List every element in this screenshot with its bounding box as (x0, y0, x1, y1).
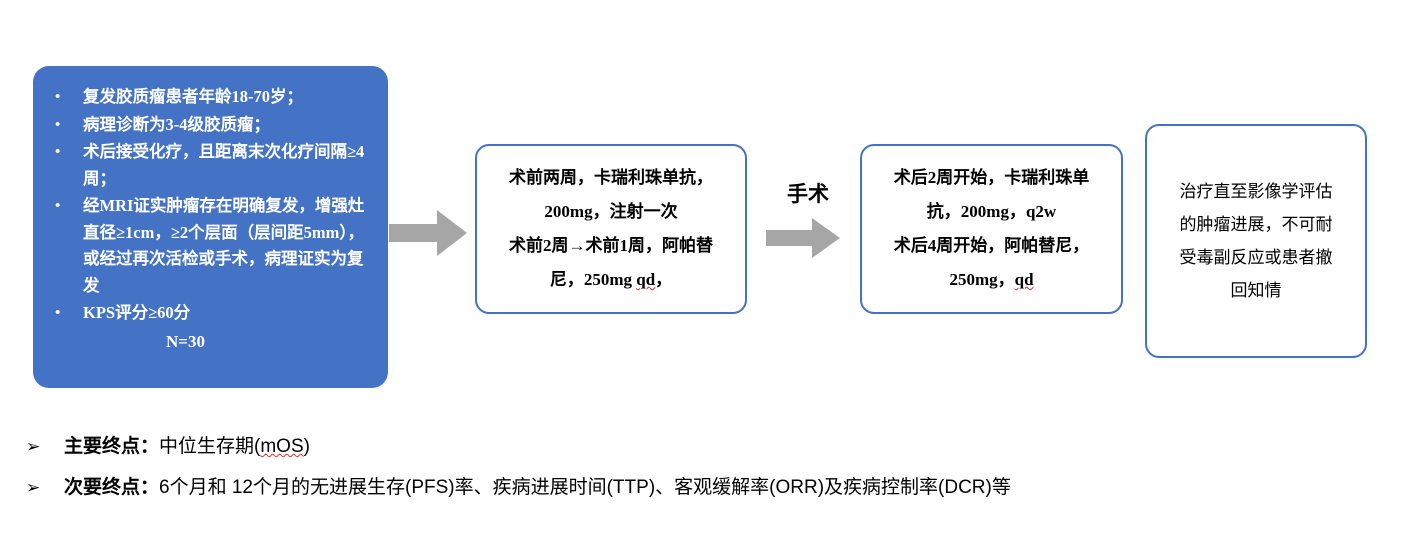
criterion-text: 术后接受化疗，且距离末次化疗间隔≥4周； (83, 142, 364, 188)
surgery-step-label: 手术 (772, 182, 844, 208)
treatment-continuation-box: 治疗直至影像学评估 的肿瘤进展，不可耐 受毒副反应或患者撤 回知情 (1145, 124, 1367, 358)
criterion-text: 复发胶质瘤患者年龄18-70岁； (83, 87, 303, 106)
pre-op-line-2: 200mg，注射一次 (485, 195, 737, 229)
list-item: • 经MRI证实肿瘤存在明确复发，增强灶直径≥1cm，≥2个层面（层间距5mm）… (43, 193, 376, 299)
post-op-line-4-text: 250mg，qd (949, 270, 1033, 289)
arrow-bullet-icon: ➢ (26, 432, 64, 462)
post-op-line-2: 抗，200mg，q2w (870, 195, 1113, 229)
primary-endpoint-row: ➢ 主要终点： 中位生存期(mOS) (26, 432, 1386, 462)
post-op-treatment-box: 术后2周开始，卡瑞利珠单 抗，200mg，q2w 术后4周开始，阿帕替尼， 25… (860, 144, 1123, 314)
arrow-right-icon-1 (389, 210, 467, 261)
secondary-endpoint-row: ➢ 次要终点： 6个月和 12个月的无进展生存(PFS)率、疾病进展时间(TTP… (26, 473, 1386, 503)
eligibility-criteria-list: • 复发胶质瘤患者年龄18-70岁； • 病理诊断为3-4级胶质瘤； • 术后接… (43, 84, 376, 327)
pre-op-treatment-box: 术前两周，卡瑞利珠单抗， 200mg，注射一次 术前2周→术前1周，阿帕替 尼，… (475, 144, 747, 314)
bullet-icon: • (55, 300, 60, 327)
sample-size-label: N=30 (43, 332, 376, 352)
post-op-line-3: 术后4周开始，阿帕替尼， (870, 229, 1113, 263)
treatment-continuation-text: 治疗直至影像学评估 的肿瘤进展，不可耐 受毒副反应或患者撤 回知情 (1147, 175, 1365, 307)
bullet-icon: • (55, 139, 60, 166)
continuation-line-4: 回知情 (1155, 274, 1357, 307)
eligibility-criteria-box: • 复发胶质瘤患者年龄18-70岁； • 病理诊断为3-4级胶质瘤； • 术后接… (33, 66, 388, 388)
primary-endpoint-text: 中位生存期(mOS) (159, 432, 310, 462)
list-item: • 术后接受化疗，且距离末次化疗间隔≥4周； (43, 139, 376, 192)
list-item: • 病理诊断为3-4级胶质瘤； (43, 112, 376, 139)
secondary-endpoint-text: 6个月和 12个月的无进展生存(PFS)率、疾病进展时间(TTP)、客观缓解率(… (159, 473, 1011, 503)
primary-endpoint-label: 主要终点： (64, 432, 159, 462)
pre-op-line-4: 尼，250mg qd， (485, 263, 737, 297)
bullet-icon: • (55, 193, 60, 220)
list-item: • 复发胶质瘤患者年龄18-70岁； (43, 84, 376, 111)
list-item: • KPS评分≥60分 (43, 300, 376, 327)
endpoints-section: ➢ 主要终点： 中位生存期(mOS) ➢ 次要终点： 6个月和 12个月的无进展… (26, 432, 1386, 514)
continuation-line-1: 治疗直至影像学评估 (1155, 175, 1357, 208)
post-op-line-1: 术后2周开始，卡瑞利珠单 (870, 161, 1113, 195)
spellcheck-marked-token: qd (636, 270, 655, 289)
trial-design-flowchart: • 复发胶质瘤患者年龄18-70岁； • 病理诊断为3-4级胶质瘤； • 术后接… (0, 0, 1412, 542)
criterion-text: KPS评分≥60分 (83, 303, 190, 322)
continuation-line-2: 的肿瘤进展，不可耐 (1155, 208, 1357, 241)
arrow-right-icon-2 (766, 218, 840, 263)
pre-op-line-3: 术前2周→术前1周，阿帕替 (485, 229, 737, 263)
secondary-endpoint-label: 次要终点： (64, 473, 159, 503)
continuation-line-3: 受毒副反应或患者撤 (1155, 241, 1357, 274)
bullet-icon: • (55, 112, 60, 139)
bullet-icon: • (55, 84, 60, 111)
pre-op-treatment-text: 术前两周，卡瑞利珠单抗， 200mg，注射一次 术前2周→术前1周，阿帕替 尼，… (477, 161, 745, 297)
spellcheck-marked-token: qd (1015, 270, 1034, 289)
arrow-bullet-icon: ➢ (26, 473, 64, 503)
criterion-text: 经MRI证实肿瘤存在明确复发，增强灶直径≥1cm，≥2个层面（层间距5mm），或… (83, 196, 364, 295)
post-op-line-4: 250mg，qd (870, 263, 1113, 297)
criterion-text: 病理诊断为3-4级胶质瘤； (83, 115, 270, 134)
spellcheck-marked-token: mOS (260, 436, 303, 457)
pre-op-line-4-text: 尼，250mg qd， (550, 270, 672, 289)
post-op-treatment-text: 术后2周开始，卡瑞利珠单 抗，200mg，q2w 术后4周开始，阿帕替尼， 25… (862, 161, 1121, 297)
pre-op-line-1: 术前两周，卡瑞利珠单抗， (485, 161, 737, 195)
